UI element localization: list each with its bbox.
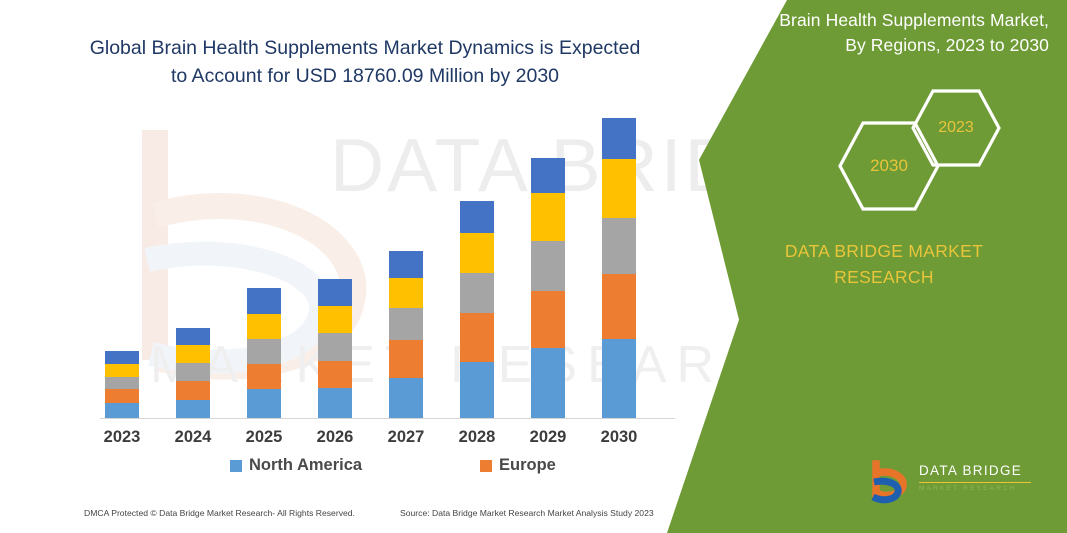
bar-segment: [460, 362, 494, 418]
bar-segment: [176, 381, 210, 400]
bar-segment: [602, 218, 636, 274]
bar-segment: [531, 348, 565, 418]
bar-segment: [318, 361, 352, 389]
bar-segment: [602, 274, 636, 339]
x-axis-line: [100, 418, 675, 419]
green-panel-title-line1: Global Brain Health Supplements Market,: [697, 8, 1049, 33]
legend-swatch-icon: [230, 460, 242, 472]
chart-legend: North AmericaEurope: [80, 456, 680, 480]
bar-segment: [105, 403, 139, 418]
bar-segment: [602, 339, 636, 419]
logo-mark-icon: [867, 460, 913, 506]
bar-segment: [247, 314, 281, 338]
bar-segment: [318, 306, 352, 334]
bar-segment: [531, 291, 565, 348]
infographic-root: DATA BRIDGE MARKET RESEARCH Global Brain…: [0, 0, 1067, 533]
bar-2025: [247, 288, 281, 418]
x-axis-label-2030: 2030: [589, 428, 649, 447]
bar-segment: [460, 201, 494, 233]
bar-segment: [247, 389, 281, 418]
bar-segment: [460, 273, 494, 313]
footer-source: Source: Data Bridge Market Research Mark…: [400, 508, 654, 518]
hexagon-group: 2030 2023: [827, 88, 1027, 208]
x-axis-labels: 20232024202520262027202820292030: [80, 428, 680, 452]
brand-name: DATA BRIDGE MARKET RESEARCH: [719, 238, 1049, 291]
bar-segment: [176, 400, 210, 418]
bar-segment: [247, 364, 281, 389]
footer: DMCA Protected © Data Bridge Market Rese…: [0, 508, 700, 528]
legend-item-north-america[interactable]: North America: [230, 456, 362, 475]
bar-segment: [318, 388, 352, 418]
hexagon-2023-label: 2023: [910, 119, 1002, 137]
x-axis-label-2026: 2026: [305, 428, 365, 447]
bar-segment: [531, 193, 565, 241]
bar-group: [80, 108, 680, 418]
logo-text: DATA BRIDGE MARKET RESEARCH: [919, 464, 1039, 492]
bar-2026: [318, 279, 352, 418]
x-axis-label-2023: 2023: [92, 428, 152, 447]
bar-2030: [602, 118, 636, 418]
green-panel-title-line2: By Regions, 2023 to 2030: [697, 33, 1049, 58]
bar-segment: [531, 241, 565, 291]
bar-2029: [531, 158, 565, 418]
brand-name-line2: RESEARCH: [719, 264, 1049, 290]
legend-item-europe[interactable]: Europe: [480, 456, 556, 475]
x-axis-label-2027: 2027: [376, 428, 436, 447]
bar-segment: [247, 288, 281, 315]
data-bridge-logo: DATA BRIDGE MARKET RESEARCH: [867, 458, 1037, 508]
bar-segment: [460, 313, 494, 362]
bar-segment: [105, 351, 139, 364]
bar-segment: [602, 159, 636, 217]
bar-segment: [531, 158, 565, 193]
bar-segment: [318, 333, 352, 361]
bar-segment: [460, 233, 494, 273]
x-axis-label-2029: 2029: [518, 428, 578, 447]
bar-segment: [247, 339, 281, 364]
bar-segment: [105, 377, 139, 390]
bar-segment: [105, 364, 139, 377]
bar-segment: [389, 340, 423, 378]
x-axis-label-2024: 2024: [163, 428, 223, 447]
bar-2028: [460, 201, 494, 418]
logo-divider: [919, 482, 1031, 483]
bar-segment: [389, 378, 423, 418]
bar-segment: [389, 308, 423, 340]
footer-copyright: DMCA Protected © Data Bridge Market Rese…: [84, 508, 355, 518]
x-axis-label-2028: 2028: [447, 428, 507, 447]
chart-title-line2: to Account for USD 18760.09 Million by 2…: [60, 62, 670, 90]
bar-segment: [389, 251, 423, 279]
logo-name: DATA BRIDGE: [919, 464, 1039, 479]
bar-segment: [389, 278, 423, 308]
bar-segment: [176, 363, 210, 381]
bar-segment: [318, 279, 352, 306]
legend-label: Europe: [499, 456, 556, 475]
bar-2024: [176, 328, 210, 418]
chart-plot-area: [80, 100, 680, 430]
logo-tagline: MARKET RESEARCH: [919, 485, 1039, 492]
bar-segment: [176, 345, 210, 363]
bar-2027: [389, 251, 423, 418]
green-panel-title: Global Brain Health Supplements Market, …: [697, 8, 1049, 59]
bar-2023: [105, 351, 139, 418]
chart-title-line1: Global Brain Health Supplements Market D…: [60, 34, 670, 62]
legend-swatch-icon: [480, 460, 492, 472]
chart-title: Global Brain Health Supplements Market D…: [60, 34, 670, 91]
x-axis-label-2025: 2025: [234, 428, 294, 447]
brand-name-line1: DATA BRIDGE MARKET: [719, 238, 1049, 264]
green-panel: Global Brain Health Supplements Market, …: [667, 0, 1067, 533]
bar-segment: [602, 118, 636, 159]
legend-label: North America: [249, 456, 362, 475]
bar-segment: [105, 389, 139, 403]
bar-segment: [176, 328, 210, 345]
hexagon-2023: 2023: [910, 88, 1002, 168]
